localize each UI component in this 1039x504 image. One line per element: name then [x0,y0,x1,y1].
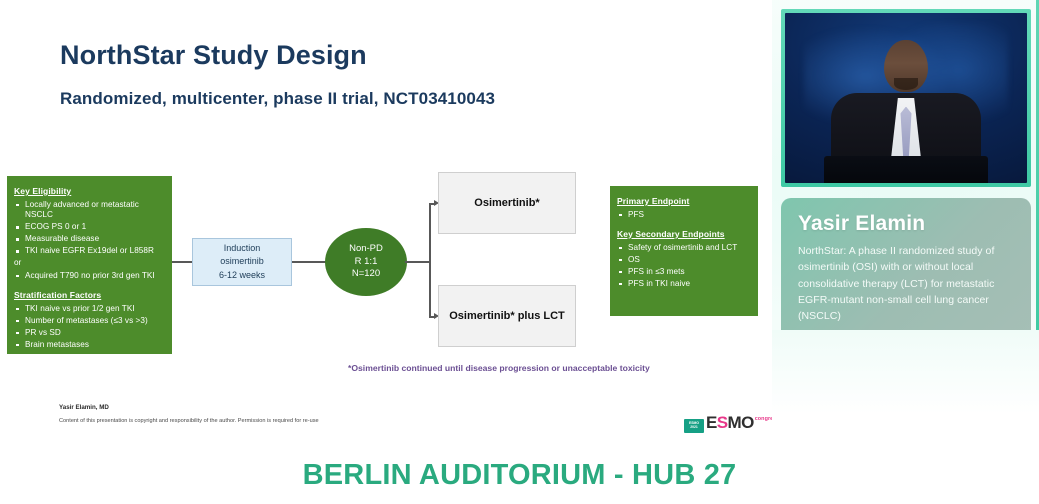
speaker-panel: Yasir Elamin NorthStar: A phase II rando… [772,0,1039,447]
connector-induction-to-randomization [292,261,326,263]
spacer [617,222,750,229]
induction-line-1: Induction [224,243,261,253]
author-name: Yasir Elamin, MD [59,404,109,411]
randomization-line-1: Non-PD [349,243,383,256]
endpoints-box: Primary Endpoint PFS Key Secondary Endpo… [610,186,758,316]
list-item: Brain metastases [14,340,164,351]
list-item: TKI naive vs prior 1/2 gen TKI [14,304,164,315]
presentation-stage: NorthStar Study Design Randomized, multi… [0,0,1039,504]
speaker-name: Yasir Elamin [798,212,1014,236]
esmo-letter-o: O [741,413,754,433]
talk-title: NorthStar: A phase II randomized study o… [798,243,1014,324]
secondary-endpoints-list: Safety of osimertinib and LCT OS PFS in … [617,243,750,290]
list-item: Number of metastases (≤3 vs >3) [14,316,164,327]
list-item: Safety of osimertinib and LCT [617,243,750,254]
esmo-congress-logo: ESMO 2021 E S M O congress [684,409,779,433]
list-item: PFS [617,210,750,221]
induction-line-3: 6-12 weeks [219,270,265,280]
treatment-arm-1-label: Osimertinib* [474,196,539,211]
venue-banner: BERLIN AUDITORIUM - HUB 27 [0,447,1039,504]
speaker-head [884,40,928,92]
connector-eligibility-to-induction [172,261,192,263]
list-item: TKI naive EGFR Ex19del or L858R [14,246,164,257]
secondary-endpoints-heading: Key Secondary Endpoints [617,229,750,240]
list-item: OS [617,255,750,266]
esmo-letter-e: E [706,413,717,433]
esmo-badge-line-2: 2021 [690,426,698,430]
treatment-arm-2-label: Osimertinib* plus LCT [449,309,565,324]
eligibility-or-connector: or [14,258,164,269]
panel-fade [772,330,1039,447]
esmo-letter-m: M [728,413,742,433]
key-eligibility-box: Key Eligibility Locally advanced or meta… [7,176,172,354]
spacer [14,283,164,290]
stratification-factors-list: TKI naive vs prior 1/2 gen TKI Number of… [14,304,164,351]
slide-footnote: *Osimertinib continued until disease pro… [348,363,650,373]
speaker-video[interactable] [785,13,1027,183]
esmo-badge-icon: ESMO 2021 [684,419,704,433]
randomization-line-2: R 1:1 [355,256,378,269]
list-item: Acquired T790 no prior 3rd gen TKI [14,271,164,282]
slide-subtitle: Randomized, multicenter, phase II trial,… [60,89,495,109]
speaker-video-frame[interactable] [781,9,1031,187]
connector-stem [405,261,430,263]
esmo-letter-s: S [717,413,728,433]
induction-line-2: osimertinib [220,256,264,266]
list-item: ECOG PS 0 or 1 [14,222,164,233]
key-eligibility-list: Locally advanced or metastatic NSCLC ECO… [14,200,164,257]
randomization-line-3: N=120 [352,268,380,281]
podium [824,156,989,183]
copyright-notice: Content of this presentation is copyrigh… [59,418,319,424]
venue-banner-text: BERLIN AUDITORIUM - HUB 27 [303,459,737,492]
slide-canvas: NorthStar Study Design Randomized, multi… [0,0,772,447]
speaker-info-card: Yasir Elamin NorthStar: A phase II rando… [781,198,1031,350]
key-eligibility-list-2: Acquired T790 no prior 3rd gen TKI [14,271,164,282]
list-item: PFS in ≤3 mets [617,267,750,278]
list-item: Measurable disease [14,234,164,245]
treatment-arm-1: Osimertinib* [438,172,576,234]
slide-title: NorthStar Study Design [60,40,367,71]
key-eligibility-heading: Key Eligibility [14,186,164,197]
induction-box: Induction osimertinib 6-12 weeks [192,238,292,286]
primary-endpoint-heading: Primary Endpoint [617,196,750,207]
list-item: PR vs SD [14,328,164,339]
esmo-wordmark: E S M O congress [706,413,779,433]
list-item: PFS in TKI naive [617,279,750,290]
list-item: Locally advanced or metastatic NSCLC [14,200,164,221]
randomization-circle: Non-PD R 1:1 N=120 [325,228,407,296]
treatment-arm-2: Osimertinib* plus LCT [438,285,576,347]
stratification-factors-heading: Stratification Factors [14,290,164,301]
primary-endpoint-list: PFS [617,210,750,221]
connector-vertical [429,203,431,317]
